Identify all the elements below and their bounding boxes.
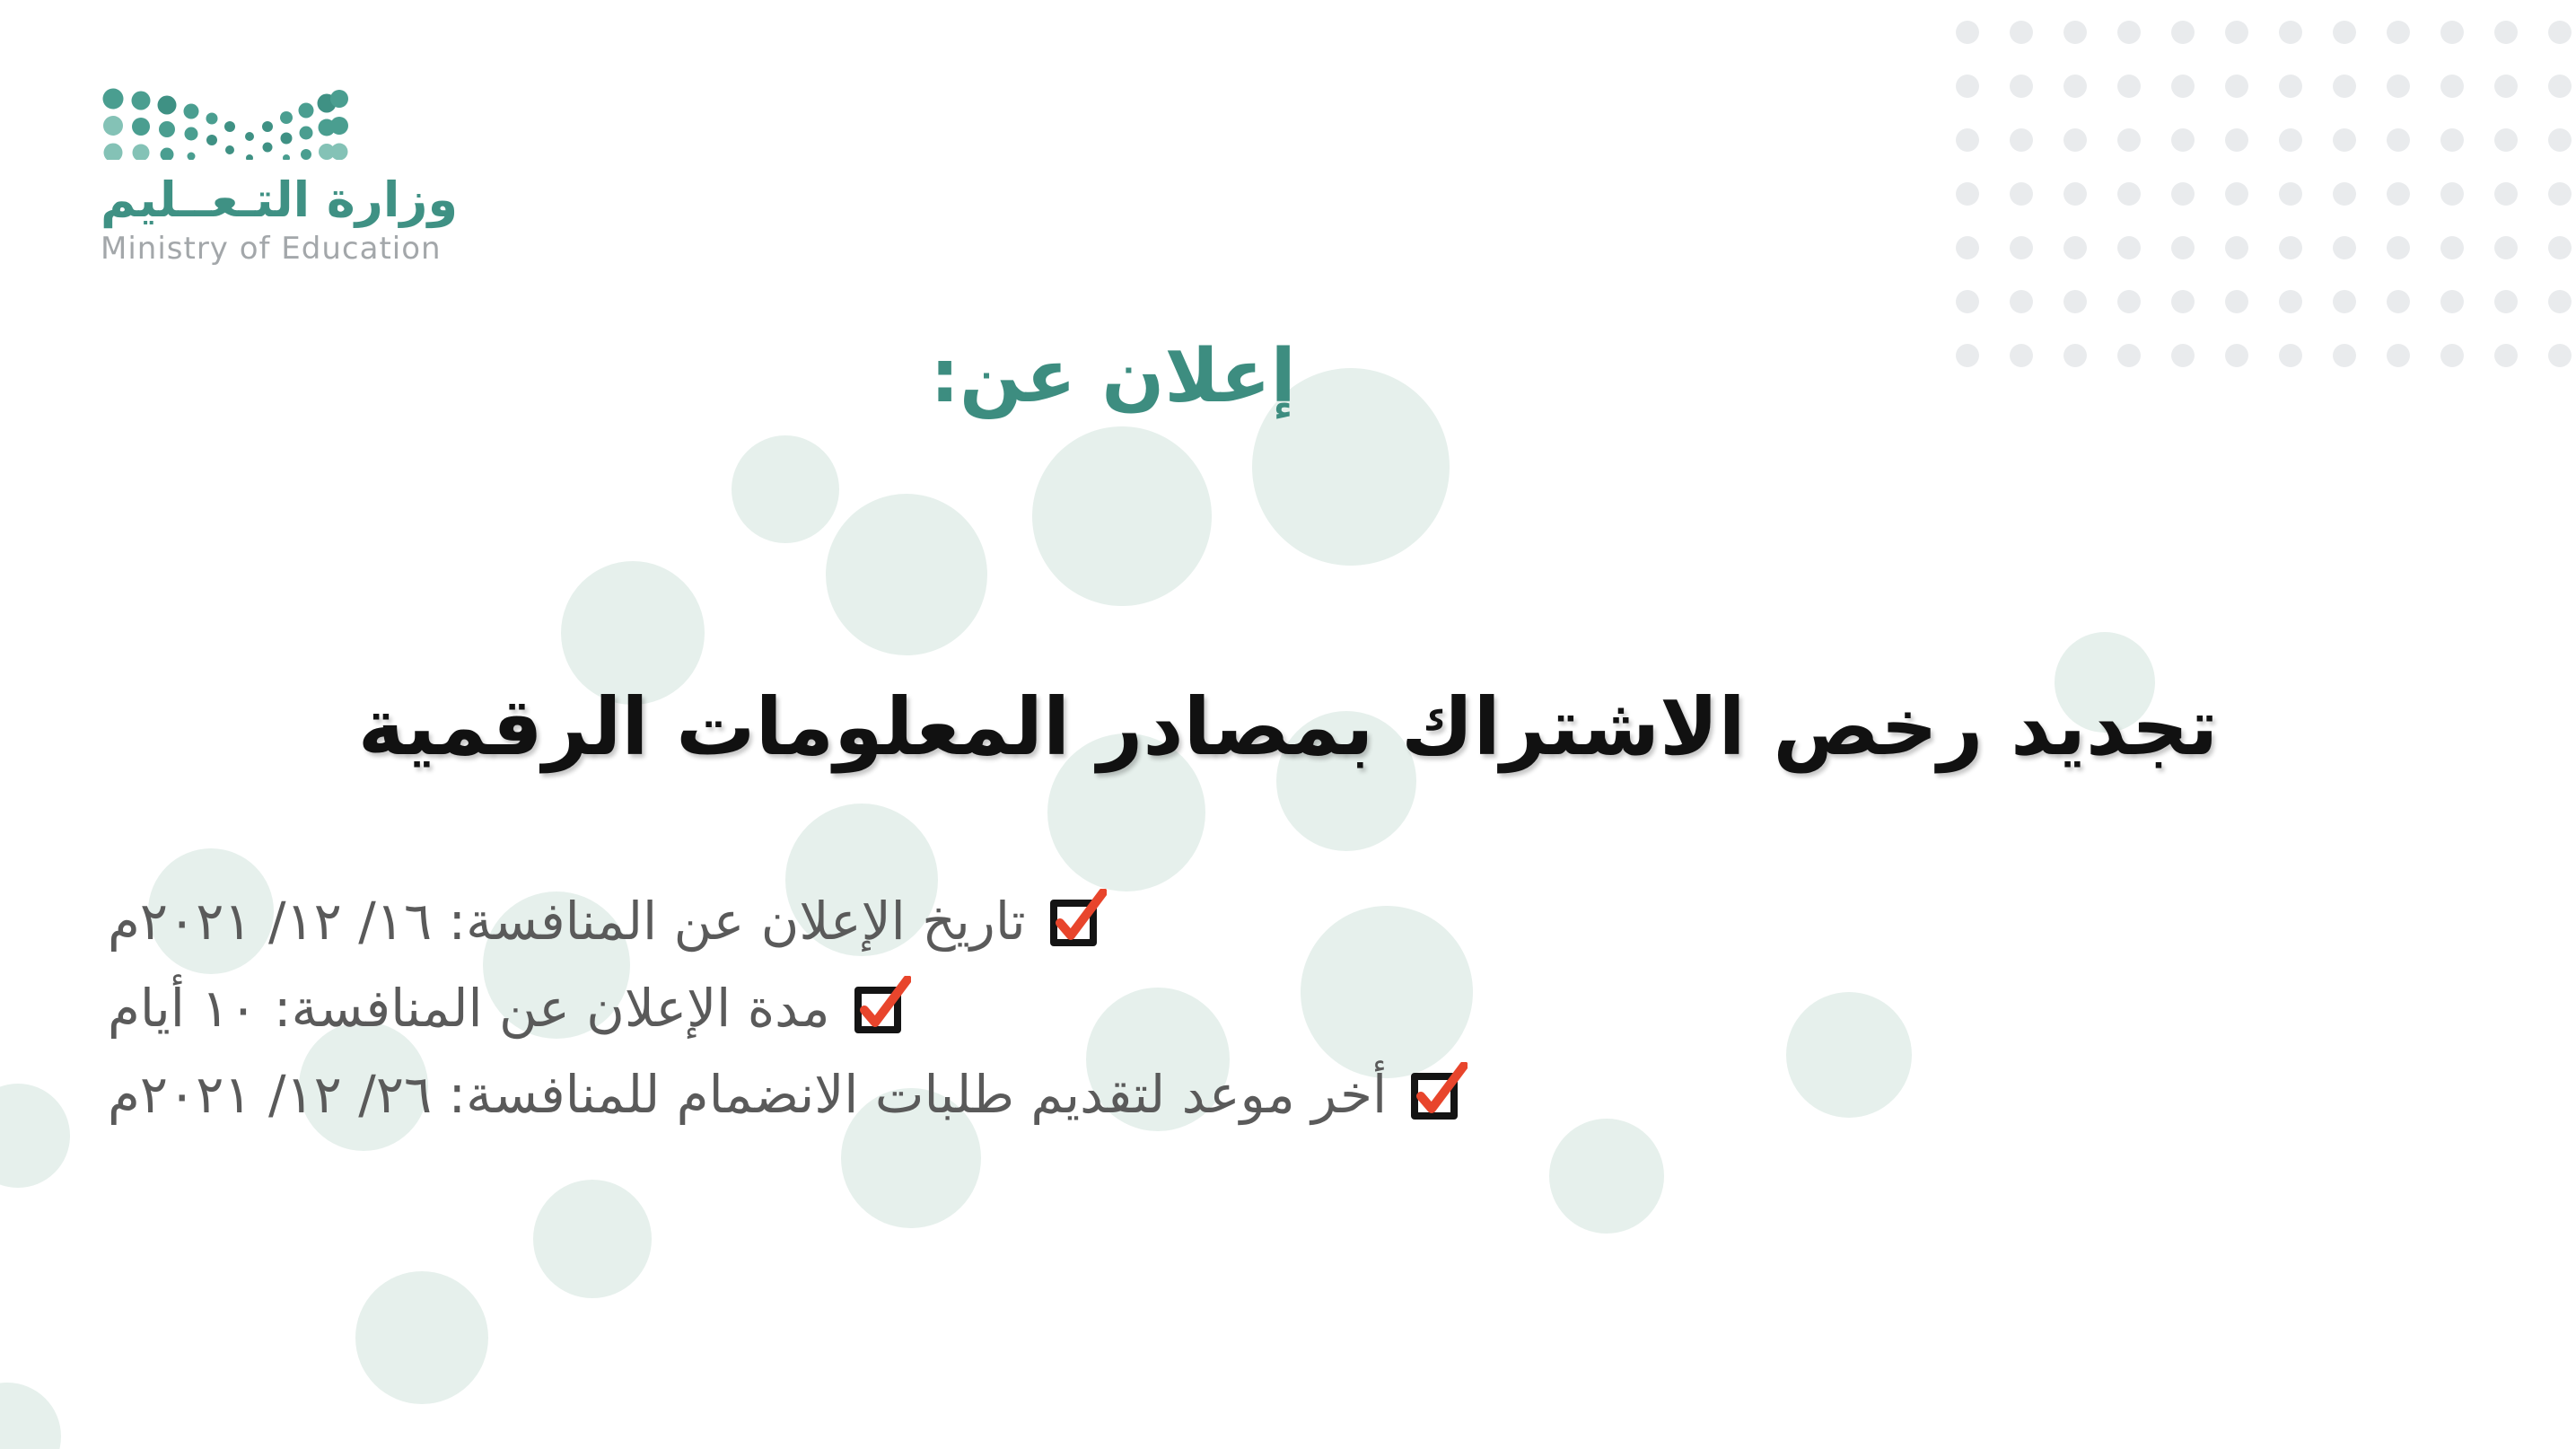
poster-content: إعلان عن: تجديد رخص الاشتراك بمصادر المع… [0,0,2576,1449]
checked-checkbox-icon[interactable] [1410,1062,1468,1127]
announcement-poster: وزارة التـعــليم Ministry of Education إ… [0,0,2576,1449]
checked-checkbox-icon[interactable] [854,976,911,1041]
list-item: أخر موعد لتقديم طلبات الانضمام للمنافسة:… [108,1062,1468,1128]
list-item: تاريخ الإعلان عن المنافسة: ١٦/ ١٢/ ٢٠٢١م [108,889,1107,954]
details-list: تاريخ الإعلان عن المنافسة: ١٦/ ١٢/ ٢٠٢١م… [108,889,2468,1128]
list-item: مدة الإعلان عن المنافسة: ١٠ أيام [108,976,911,1041]
checked-checkbox-icon[interactable] [1049,889,1107,953]
list-item-label: تاريخ الإعلان عن المنافسة: ١٦/ ١٢/ ٢٠٢١م [108,889,1026,954]
announcement-eyebrow: إعلان عن: [0,337,2576,417]
list-item-label: أخر موعد لتقديم طلبات الانضمام للمنافسة:… [108,1062,1387,1128]
page-title: تجديد رخص الاشتراك بمصادر المعلومات الرق… [0,681,2576,772]
list-item-label: مدة الإعلان عن المنافسة: ١٠ أيام [108,976,830,1041]
